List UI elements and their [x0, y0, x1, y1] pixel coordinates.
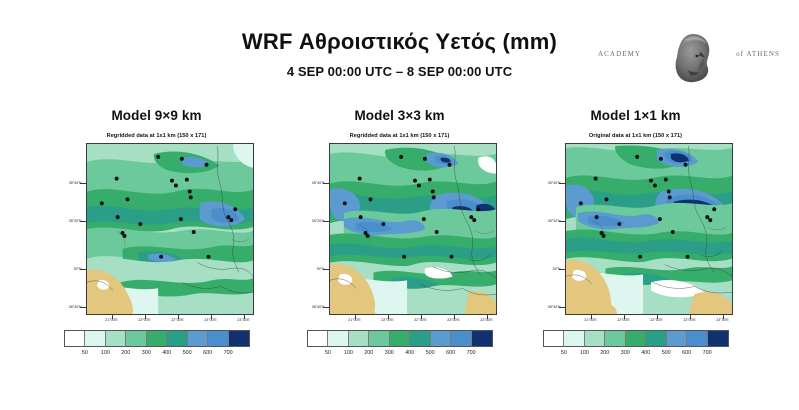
y-axis-tick: 35°20'N	[312, 219, 325, 223]
colorbar-swatch	[349, 331, 370, 346]
map-plot-area	[329, 143, 497, 315]
colorbar: 50 100 200 300 400 500 600 700	[300, 330, 500, 366]
colorbar-swatch	[687, 331, 708, 346]
panel-subtitle: Original data at 1x1 km (150 x 171)	[513, 133, 758, 139]
colorbar-ticks: 50 100 200 300 400 500 600 700	[308, 350, 492, 364]
panel-model-3x3: Model 3×3 km Regridded data at 1x1 km (1…	[277, 104, 522, 410]
colorbar-tick: 100	[344, 350, 353, 356]
colorbar-swatch	[626, 331, 647, 346]
y-axis-tick: 35°40'N	[312, 181, 325, 185]
x-axis-tick: 22°30'E	[414, 318, 427, 322]
logo-right-text: of ATHENS	[736, 50, 780, 58]
y-axis-tick: 39°N	[73, 267, 81, 271]
panel-subtitle: Regridded data at 1x1 km (150 x 171)	[34, 133, 279, 139]
x-axis-tick: 22°00'E	[381, 318, 394, 322]
x-axis-tick: 22°00'E	[617, 318, 630, 322]
colorbar-tick: 500	[662, 350, 671, 356]
colorbar-swatches	[543, 330, 729, 347]
colorbar-swatch	[106, 331, 127, 346]
colorbar-swatch	[585, 331, 606, 346]
colorbar-tick: 400	[162, 350, 171, 356]
colorbar-swatch	[646, 331, 667, 346]
colorbar-tick: 50	[325, 350, 331, 356]
x-axis-tick: 22°30'E	[650, 318, 663, 322]
colorbar-tick: 100	[580, 350, 589, 356]
athena-head-icon	[670, 32, 716, 84]
colorbar-swatch	[85, 331, 106, 346]
colorbar-swatch	[390, 331, 411, 346]
colorbar-tick: 400	[641, 350, 650, 356]
map-container: 35°40'N 35°20'N 39°N 38°40'N 21°00'E 22°…	[60, 143, 254, 321]
colorbar-tick: 200	[600, 350, 609, 356]
colorbar-swatch	[126, 331, 147, 346]
colorbar-swatch	[147, 331, 168, 346]
y-axis-tick: 38°40'N	[69, 305, 82, 309]
x-axis-tick: 21°00'E	[348, 318, 361, 322]
colorbar-swatch	[208, 331, 229, 346]
colorbar-swatches	[64, 330, 250, 347]
x-axis-tick: 23°00'E	[683, 318, 696, 322]
colorbar-swatch	[564, 331, 585, 346]
x-axis-tick: 23°00'E	[204, 318, 217, 322]
y-axis-tick: 38°40'N	[548, 305, 561, 309]
colorbar-ticks: 50 100 200 300 400 500 600 700	[65, 350, 249, 364]
colorbar-tick: 600	[682, 350, 691, 356]
panel-title: Model 3×3 km	[277, 108, 522, 123]
y-axis-tick: 39°N	[316, 267, 324, 271]
panel-model-1x1: Model 1×1 km Original data at 1x1 km (15…	[513, 104, 758, 410]
colorbar-swatch	[544, 331, 565, 346]
colorbar-swatch	[229, 331, 249, 346]
colorbar-tick: 300	[142, 350, 151, 356]
academy-of-athens-logo: ACADEMY of ATHENS	[596, 32, 782, 84]
logo-left-text: ACADEMY	[598, 50, 641, 58]
map-container: 35°40'N 35°20'N 39°N 38°40'N 21°00'E 22°…	[539, 143, 733, 321]
colorbar-swatches	[307, 330, 493, 347]
colorbar-tick: 500	[426, 350, 435, 356]
colorbar-swatch	[167, 331, 188, 346]
colorbar-swatch	[708, 331, 728, 346]
colorbar-tick: 200	[121, 350, 130, 356]
colorbar-swatch	[369, 331, 390, 346]
map-plot-area	[86, 143, 254, 315]
colorbar: 50 100 200 300 400 500 600 700	[536, 330, 736, 366]
y-axis-tick: 35°40'N	[69, 181, 82, 185]
panel-model-9x9: Model 9×9 km Regridded data at 1x1 km (1…	[34, 104, 279, 410]
colorbar-swatch	[65, 331, 86, 346]
colorbar-tick: 200	[364, 350, 373, 356]
colorbar-swatch	[605, 331, 626, 346]
page-header: WRF Αθροιστικός Υετός (mm) 4 SEP 00:00 U…	[0, 0, 799, 100]
colorbar-swatch	[328, 331, 349, 346]
colorbar-swatch	[188, 331, 209, 346]
colorbar-ticks: 50 100 200 300 400 500 600 700	[544, 350, 728, 364]
panel-row: Model 9×9 km Regridded data at 1x1 km (1…	[0, 104, 799, 410]
colorbar-tick: 50	[82, 350, 88, 356]
colorbar-tick: 500	[183, 350, 192, 356]
x-axis-tick: 23°00'E	[447, 318, 460, 322]
map-container: 35°40'N 35°20'N 39°N 38°40'N 21°00'E 22°…	[303, 143, 497, 321]
colorbar-swatch	[410, 331, 431, 346]
x-axis-tick: 23°30'E	[716, 318, 729, 322]
colorbar-tick: 50	[561, 350, 567, 356]
colorbar-tick: 300	[621, 350, 630, 356]
colorbar-tick: 700	[467, 350, 476, 356]
colorbar-swatch	[431, 331, 452, 346]
y-axis-tick: 38°40'N	[312, 305, 325, 309]
colorbar-tick: 100	[101, 350, 110, 356]
colorbar-tick: 400	[405, 350, 414, 356]
x-axis-tick: 23°30'E	[237, 318, 250, 322]
colorbar-tick: 700	[703, 350, 712, 356]
colorbar: 50 100 200 300 400 500 600 700	[57, 330, 257, 366]
x-axis-tick: 23°30'E	[480, 318, 493, 322]
panel-subtitle: Regridded data at 1x1 km (150 x 171)	[277, 133, 522, 139]
colorbar-tick: 700	[224, 350, 233, 356]
panel-title: Model 1×1 km	[513, 108, 758, 123]
y-axis-tick: 35°20'N	[548, 219, 561, 223]
x-axis-tick: 21°00'E	[584, 318, 597, 322]
colorbar-swatch	[667, 331, 688, 346]
y-axis-tick: 35°40'N	[548, 181, 561, 185]
map-plot-area	[565, 143, 733, 315]
x-axis-tick: 22°00'E	[138, 318, 151, 322]
colorbar-tick: 300	[385, 350, 394, 356]
x-axis-tick: 22°30'E	[171, 318, 184, 322]
y-axis-tick: 35°20'N	[69, 219, 82, 223]
colorbar-swatch	[451, 331, 472, 346]
panel-title: Model 9×9 km	[34, 108, 279, 123]
colorbar-tick: 600	[446, 350, 455, 356]
y-axis-tick: 39°N	[552, 267, 560, 271]
colorbar-tick: 600	[203, 350, 212, 356]
colorbar-swatch	[472, 331, 492, 346]
colorbar-swatch	[308, 331, 329, 346]
x-axis-tick: 21°00'E	[105, 318, 118, 322]
